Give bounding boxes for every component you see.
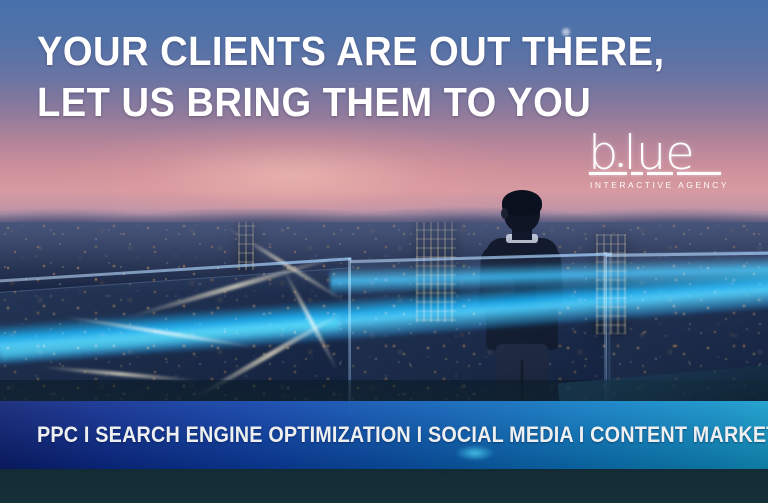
logo-wordmark: blue xyxy=(588,131,731,177)
logo-rule-segment xyxy=(677,172,721,175)
services-banner[interactable]: PPC I SEARCH ENGINE OPTIMIZATION I SOCIA… xyxy=(0,401,768,469)
logo-underline-rules xyxy=(589,172,721,176)
headline-line-2: LET US BRING THEM TO YOU xyxy=(37,77,558,128)
hair xyxy=(502,190,542,216)
logo-rule-segment xyxy=(589,172,627,175)
logo-rule-segment xyxy=(647,172,673,175)
page-title: YOUR CLIENTS ARE OUT THERE, LET US BRING… xyxy=(37,26,558,128)
logo-tagline: INTERACTIVE AGENCY xyxy=(590,180,729,190)
logo-dot-icon xyxy=(618,163,622,167)
banner-advertisement: YOUR CLIENTS ARE OUT THERE, LET US BRING… xyxy=(0,0,768,503)
banner-light-glow xyxy=(455,445,495,461)
headline-line-1: YOUR CLIENTS ARE OUT THERE, xyxy=(37,26,558,77)
logo-rule-segment xyxy=(631,172,643,175)
ear xyxy=(501,208,508,219)
brand-logo[interactable]: blue INTERACTIVE AGENCY xyxy=(588,131,728,193)
services-list-text: PPC I SEARCH ENGINE OPTIMIZATION I SOCIA… xyxy=(37,422,768,448)
